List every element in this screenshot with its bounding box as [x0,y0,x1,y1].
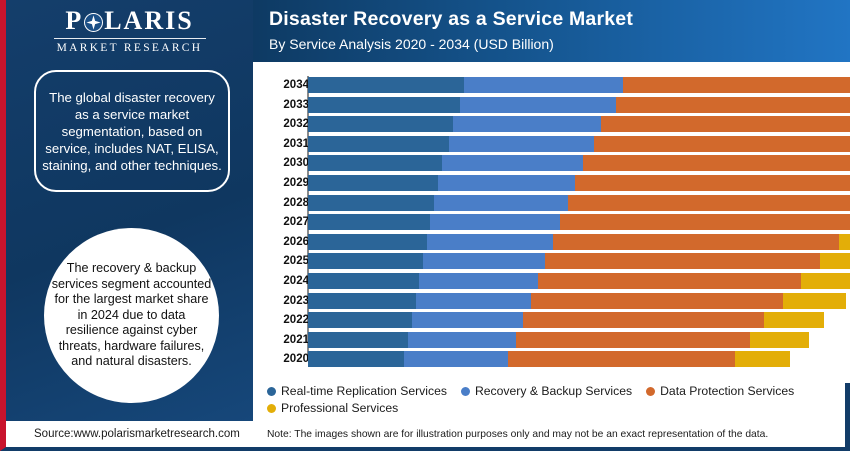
year-axis-label: 2033 [249,97,309,113]
year-axis-label: 2026 [249,234,309,250]
bar-segment [308,293,416,309]
bar-row: 2022 [253,312,850,328]
year-axis-label: 2029 [249,175,309,191]
bar-row: 2032 [253,116,850,132]
bar-segment [538,273,801,289]
bar-segment [583,155,850,171]
bar-segment [308,116,453,132]
logo-wordmark: PLARIS [6,6,253,36]
year-axis-label: 2027 [249,214,309,230]
page-title: Disaster Recovery as a Service Market [269,8,633,31]
bar-row: 2021 [253,332,850,348]
legend-items: Real-time Replication ServicesRecovery &… [267,384,850,418]
bar-segment [308,136,449,152]
legend-color-dot [267,404,276,413]
legend-color-dot [267,387,276,396]
bar-segment [545,253,820,269]
bar-segment [308,214,430,230]
year-axis-label: 2030 [249,155,309,171]
chart-note: Note: The images shown are for illustrat… [267,429,847,440]
bar-segment [308,155,442,171]
bar-segment [553,234,839,250]
page-subtitle: By Service Analysis 2020 - 2034 (USD Bil… [269,36,554,52]
bar-row: 2024 [253,273,850,289]
compass-star-icon [84,13,103,32]
bar-segment [453,116,601,132]
bar-segment [623,77,850,93]
bar-segment [308,351,404,367]
bar-segment [438,175,575,191]
bar-row: 2031 [253,136,850,152]
year-axis-label: 2020 [249,351,309,367]
stacked-bar-plot: 2034203320322031203020292028202720262025… [253,62,850,373]
bar-segment [423,253,545,269]
bar-segment [616,97,850,113]
bar-segment [601,116,850,132]
logo-text-after: LARIS [104,6,193,35]
legend-label: Real-time Replication Services [281,384,447,398]
logo-text-before: P [65,6,83,35]
bar-segment [308,332,408,348]
bar-segment [308,195,434,211]
bar-segment [839,234,850,250]
bar-segment [801,273,850,289]
year-axis-label: 2022 [249,312,309,328]
legend-item[interactable]: Real-time Replication Services [267,384,447,398]
bar-segment [308,175,438,191]
bar-segment [508,351,734,367]
bar-segment [308,77,464,93]
callout-box-segmentation: The global disaster recovery as a servic… [34,70,230,192]
bar-segment [531,293,783,309]
bar-segment [523,312,764,328]
bar-segment [430,214,560,230]
bar-segment [434,195,568,211]
bar-segment [308,312,412,328]
bar-segment [783,293,846,309]
legend-label: Recovery & Backup Services [475,384,632,398]
bar-segment [750,332,809,348]
callout-box-text: The global disaster recovery as a servic… [42,89,222,174]
legend-color-dot [461,387,470,396]
logo-tagline: MARKET RESEARCH [6,42,253,54]
legend-label: Data Protection Services [660,384,794,398]
bar-segment [442,155,583,171]
bar-row: 2026 [253,234,850,250]
bar-segment [308,97,460,113]
bar-segment [308,234,427,250]
bar-row: 2029 [253,175,850,191]
callout-circle-insight: The recovery & backup services segment a… [44,228,219,403]
callout-circle-text: The recovery & backup services segment a… [50,261,213,370]
left-sidebar: PLARIS MARKET RESEARCH The global disast… [6,0,253,421]
bar-segment [412,312,523,328]
polaris-logo: PLARIS MARKET RESEARCH [6,6,253,54]
bar-segment [575,175,850,191]
year-axis-label: 2031 [249,136,309,152]
chart-header: Disaster Recovery as a Service Market By… [253,0,850,62]
legend-item[interactable]: Data Protection Services [646,384,794,398]
bar-segment [560,214,850,230]
bar-segment [416,293,531,309]
bar-row: 2020 [253,351,850,367]
bar-row: 2025 [253,253,850,269]
year-axis-label: 2024 [249,273,309,289]
bar-segment [464,77,624,93]
chart-area: 2034203320322031203020292028202720262025… [253,62,850,383]
bar-row: 2027 [253,214,850,230]
bar-segment [308,273,419,289]
logo-divider [54,38,206,39]
year-axis-label: 2025 [249,253,309,269]
legend-color-dot [646,387,655,396]
bar-segment [764,312,823,328]
year-axis-label: 2023 [249,293,309,309]
year-axis-label: 2032 [249,116,309,132]
bar-segment [408,332,516,348]
legend-item[interactable]: Professional Services [267,401,398,415]
bar-row: 2033 [253,97,850,113]
infographic-root: PLARIS MARKET RESEARCH The global disast… [0,0,850,451]
bar-row: 2030 [253,155,850,171]
bar-segment [516,332,750,348]
bar-segment [404,351,508,367]
bar-segment [449,136,594,152]
bar-row: 2023 [253,293,850,309]
legend-label: Professional Services [281,401,398,415]
source-label: Source:www.polarismarketresearch.com [34,428,240,440]
chart-legend: Real-time Replication ServicesRecovery &… [253,384,850,424]
bar-segment [568,195,850,211]
bar-row: 2028 [253,195,850,211]
bar-row: 2034 [253,77,850,93]
bar-segment [427,234,553,250]
bar-segment [460,97,616,113]
year-axis-label: 2034 [249,77,309,93]
legend-item[interactable]: Recovery & Backup Services [461,384,632,398]
bar-segment [594,136,850,152]
bar-segment [735,351,791,367]
bar-segment [419,273,538,289]
year-axis-label: 2028 [249,195,309,211]
year-axis-label: 2021 [249,332,309,348]
bar-segment [820,253,850,269]
bar-segment [308,253,423,269]
